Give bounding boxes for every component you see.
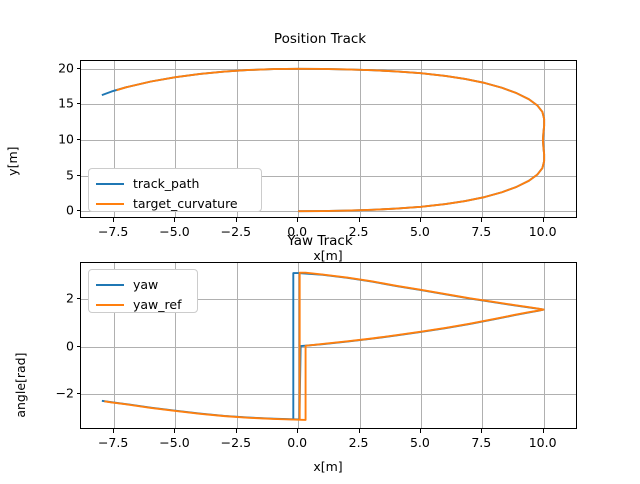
x-tick-label: −2.5 [221,435,251,450]
y-tick-label: −2 [56,385,74,400]
x-tick-mark [297,429,298,433]
matplotlib-figure: Position Track y[m] x[m] track_path targ… [0,0,640,484]
position-track-xlabel: x[m] [313,248,342,263]
x-tick-label: −7.5 [98,435,128,450]
legend-label-target-curvature: target_curvature [133,198,238,211]
legend-label-yaw: yaw [133,279,158,292]
x-tick-label: −5.0 [159,224,189,239]
x-tick-mark [297,218,298,222]
legend-label-yaw-ref: yaw_ref [133,299,182,312]
y-tick-label: 2 [66,291,74,306]
x-tick-mark [174,218,175,222]
x-tick-label: 5.0 [410,435,430,450]
legend-label-track-path: track_path [133,178,199,191]
x-tick-mark [420,429,421,433]
y-tick-mark [77,68,81,69]
yaw-track-xlabel: x[m] [313,459,342,474]
position-track-title: Position Track [274,31,366,47]
x-tick-mark [236,218,237,222]
y-tick-label: 0 [66,203,74,218]
position-track-ylabel: y[m] [5,147,20,176]
x-tick-label: 2.5 [349,224,369,239]
x-tick-mark [236,429,237,433]
yaw-track-legend[interactable]: yaw yaw_ref [88,269,198,313]
y-tick-mark [77,346,81,347]
y-tick-mark [77,139,81,140]
yaw-color-swatch [96,284,124,286]
legend-item-track-path[interactable]: track_path [96,174,253,194]
x-tick-label: 0.0 [287,224,307,239]
y-tick-mark [77,210,81,211]
yaw-track-ylabel: angle[rad] [13,353,28,418]
x-tick-label: 2.5 [349,435,369,450]
x-tick-mark [359,429,360,433]
x-tick-label: 5.0 [410,224,430,239]
x-tick-mark [359,218,360,222]
y-tick-label: 10 [58,132,74,147]
x-tick-label: 10.0 [529,224,557,239]
x-tick-mark [174,429,175,433]
x-tick-label: −2.5 [221,224,251,239]
x-tick-label: 10.0 [529,435,557,450]
x-tick-mark [481,218,482,222]
legend-item-yaw-ref[interactable]: yaw_ref [96,295,189,315]
y-tick-label: 20 [58,60,74,75]
y-tick-mark [77,175,81,176]
x-tick-mark [543,218,544,222]
yaw-ref-color-swatch [96,304,124,306]
x-tick-label: 0.0 [287,435,307,450]
position-track-legend[interactable]: track_path target_curvature [88,168,262,212]
y-tick-mark [77,298,81,299]
x-tick-mark [113,218,114,222]
track-path-color-swatch [96,183,124,185]
x-tick-mark [420,218,421,222]
legend-item-yaw[interactable]: yaw [96,275,189,295]
y-tick-label: 0 [66,338,74,353]
x-tick-label: 7.5 [471,435,491,450]
x-tick-label: −7.5 [98,224,128,239]
x-tick-mark [481,429,482,433]
y-tick-mark [77,393,81,394]
x-tick-mark [113,429,114,433]
y-tick-mark [77,103,81,104]
y-tick-label: 5 [66,167,74,182]
x-tick-mark [543,429,544,433]
x-tick-label: −5.0 [159,435,189,450]
target-curvature-color-swatch [96,203,124,205]
x-tick-label: 7.5 [471,224,491,239]
legend-item-target-curvature[interactable]: target_curvature [96,194,253,214]
y-tick-label: 15 [58,96,74,111]
